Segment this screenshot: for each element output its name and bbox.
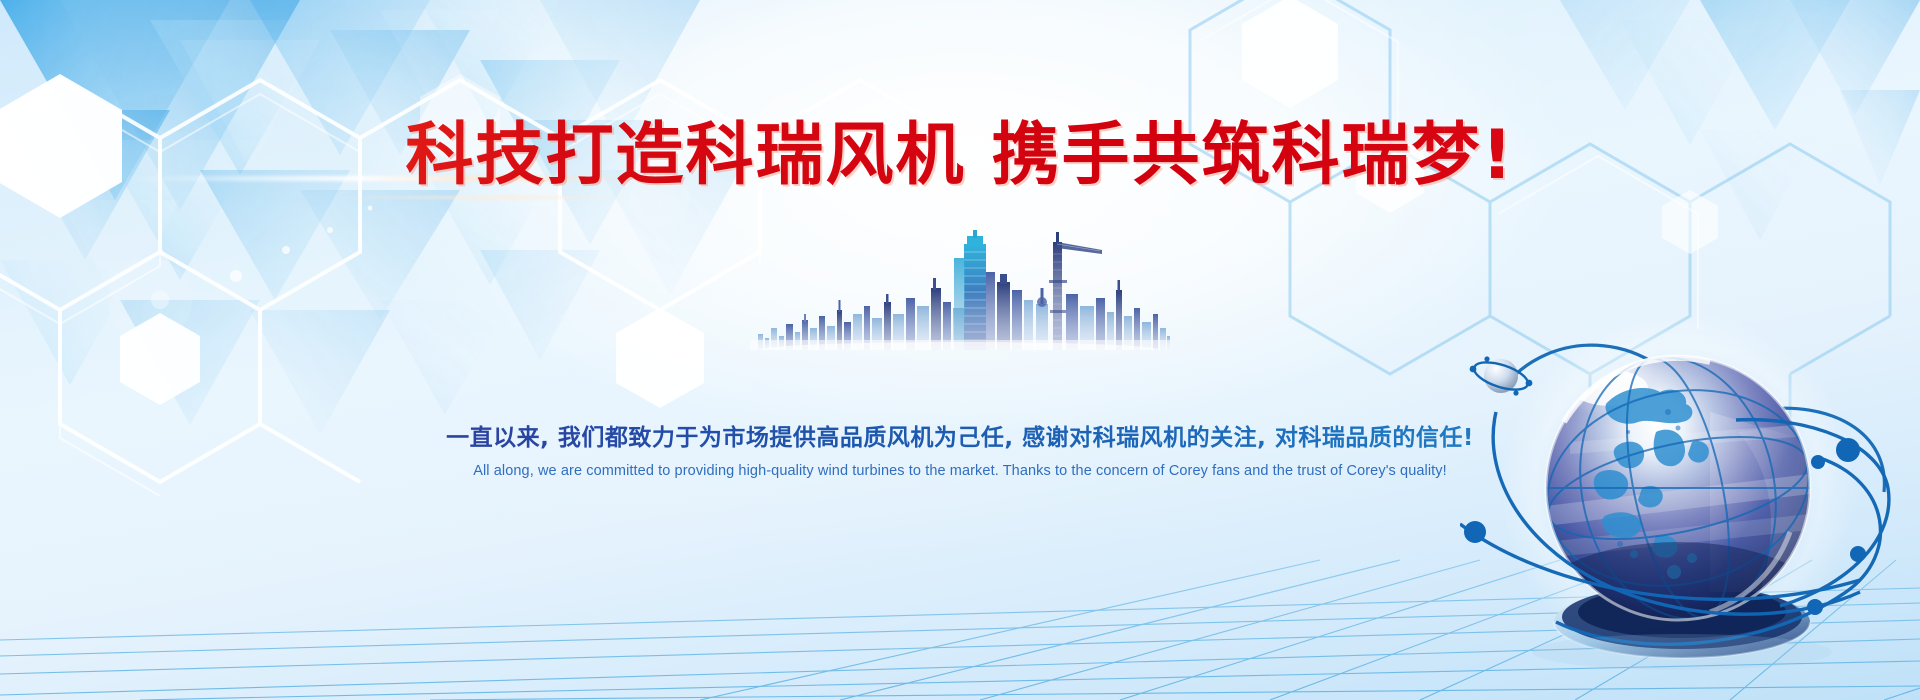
headline-part-1: 科技打造科瑞风机 xyxy=(405,116,965,195)
globe-network-illustration xyxy=(1460,292,1920,692)
light-streak-secondary xyxy=(330,196,630,199)
promo-banner: 科技打造科瑞风机携手共筑科瑞梦! 一直以来, 我们都致力于为市场提供高品质风机为… xyxy=(0,0,1920,700)
headline-part-2: 携手共筑科瑞梦! xyxy=(992,116,1515,195)
city-skyline-illustration xyxy=(750,228,1170,350)
page-title: 科技打造科瑞风机携手共筑科瑞梦! xyxy=(0,0,1920,194)
banner-text-block: 科技打造科瑞风机携手共筑科瑞梦! 一直以来, 我们都致力于为市场提供高品质风机为… xyxy=(0,0,1920,194)
